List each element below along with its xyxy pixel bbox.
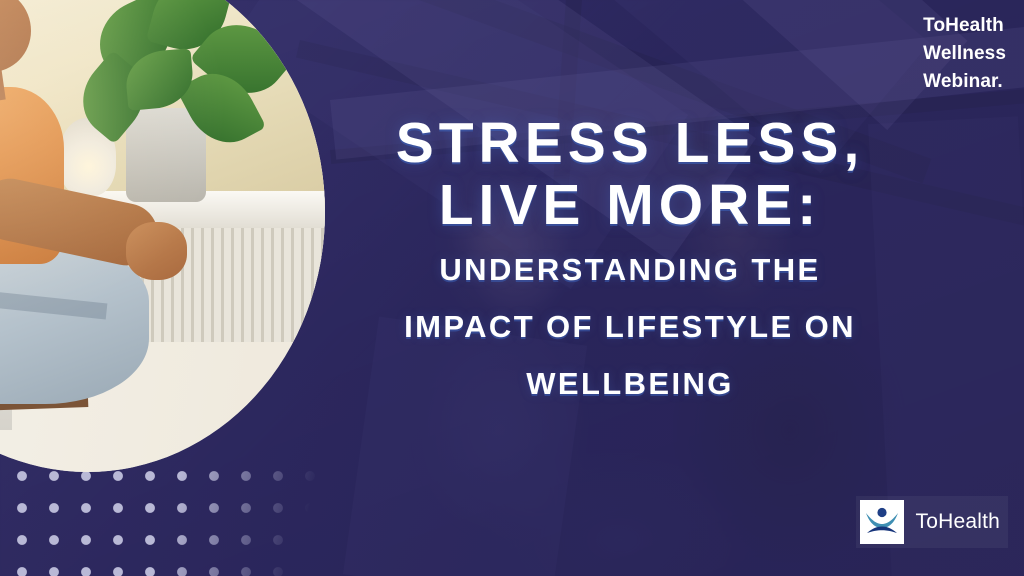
dot-pattern-decoration — [0, 456, 320, 576]
brand-line-2: Wellness — [923, 40, 1006, 68]
brand-line-1: ToHealth — [923, 12, 1006, 40]
tohealth-logo-wordmark: ToHealth — [916, 510, 1000, 534]
brand-line-3: Webinar. — [923, 68, 1006, 96]
page-subtitle-line-2: IMPACT OF LIFESTYLE ON — [250, 303, 1010, 350]
tohealth-figure-logo-icon — [860, 500, 904, 544]
brand-webinar-label: ToHealth Wellness Webinar. — [923, 12, 1006, 96]
webinar-banner: ToHealth Wellness Webinar. STRESS LESS, … — [0, 0, 1024, 576]
page-subtitle-line-3: WELLBEING — [250, 360, 1010, 407]
headline-block: STRESS LESS, LIVE MORE: UNDERSTANDING TH… — [250, 112, 1010, 407]
page-title-line-2: LIVE MORE: — [250, 174, 1010, 236]
page-title-line-1: STRESS LESS, — [250, 112, 1010, 174]
page-subtitle-line-1: UNDERSTANDING THE — [250, 246, 1010, 293]
tohealth-logo-lockup: ToHealth — [856, 496, 1008, 548]
